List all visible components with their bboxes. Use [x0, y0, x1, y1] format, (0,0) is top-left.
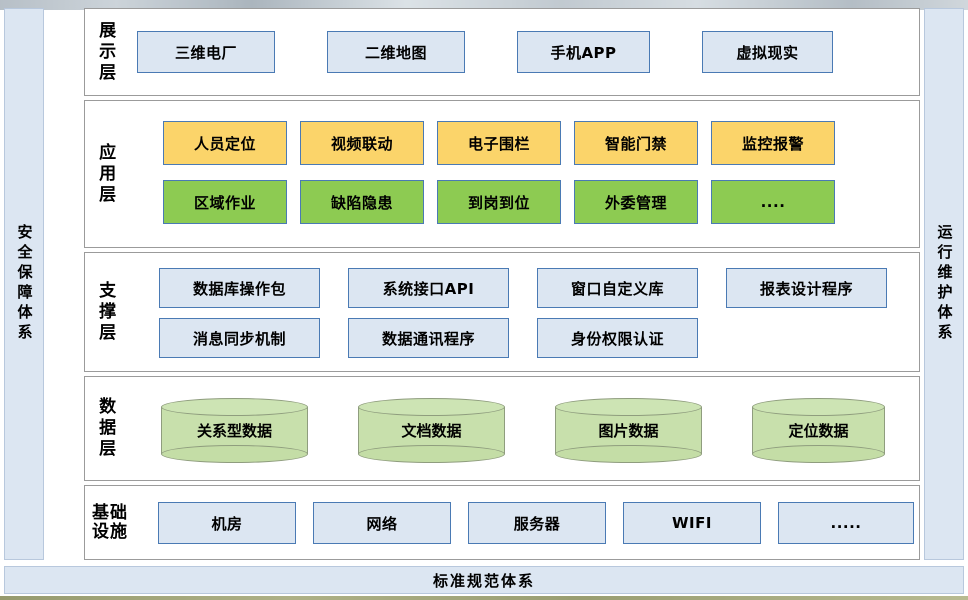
layer-application: 应用层 人员定位 视频联动 电子围栏 智能门禁 监控报警 区域作业 缺陷隐患 到… [84, 100, 920, 248]
node-monitoring-alarm[interactable]: 监控报警 [711, 121, 835, 165]
cylinder-relational-data[interactable]: 关系型数据 [161, 398, 308, 463]
cylinder-document-data[interactable]: 文档数据 [358, 398, 505, 463]
layer-data: 数据层 关系型数据 文档数据 [84, 376, 920, 481]
node-area-operation[interactable]: 区域作业 [163, 180, 287, 224]
infrastructure-node-row: 机房 网络 服务器 WIFI ..... [158, 502, 914, 544]
support-node-row-1: 数据库操作包 系统接口API 窗口自定义库 报表设计程序 [159, 268, 887, 308]
layer-infrastructure-label: 基础 设施 [87, 486, 133, 559]
layer-infrastructure: 基础 设施 机房 网络 服务器 WIFI ..... [84, 485, 920, 560]
architecture-diagram: 〈〈 〈〈 安全保障体系 运行维护体系 展示层 三维电厂 二维地图 手机APP … [0, 0, 968, 600]
application-node-row-2: 区域作业 缺陷隐患 到岗到位 外委管理 .... [163, 180, 835, 224]
node-defect-hazard[interactable]: 缺陷隐患 [300, 180, 424, 224]
node-system-interface-api[interactable]: 系统接口API [348, 268, 509, 308]
right-side-panel: 运行维护体系 [924, 8, 964, 560]
cylinder-label: 关系型数据 [161, 398, 308, 463]
node-server-room[interactable]: 机房 [158, 502, 296, 544]
node-smart-access-control[interactable]: 智能门禁 [574, 121, 698, 165]
node-personnel-positioning[interactable]: 人员定位 [163, 121, 287, 165]
node-server[interactable]: 服务器 [468, 502, 606, 544]
layer-infrastructure-label-line2: 设施 [92, 522, 128, 542]
node-2d-map[interactable]: 二维地图 [327, 31, 465, 73]
node-infrastructure-more[interactable]: ..... [778, 502, 914, 544]
node-virtual-reality[interactable]: 虚拟现实 [702, 31, 833, 73]
node-identity-permission-auth[interactable]: 身份权限认证 [537, 318, 698, 358]
cylinder-label: 文档数据 [358, 398, 505, 463]
layer-presentation: 展示层 三维电厂 二维地图 手机APP 虚拟现实 [84, 8, 920, 96]
node-data-communication-program[interactable]: 数据通讯程序 [348, 318, 509, 358]
node-window-custom-library[interactable]: 窗口自定义库 [537, 268, 698, 308]
bottom-standards-bar-label: 标准规范体系 [433, 570, 535, 591]
node-report-design-program[interactable]: 报表设计程序 [726, 268, 887, 308]
support-node-row-2: 消息同步机制 数据通讯程序 身份权限认证 [159, 318, 698, 358]
cylinder-label: 图片数据 [555, 398, 702, 463]
node-wifi[interactable]: WIFI [623, 502, 761, 544]
node-message-sync-mechanism[interactable]: 消息同步机制 [159, 318, 320, 358]
cylinder-label: 定位数据 [752, 398, 885, 463]
node-mobile-app[interactable]: 手机APP [517, 31, 650, 73]
node-video-linkage[interactable]: 视频联动 [300, 121, 424, 165]
right-side-panel-label: 运行维护体系 [937, 224, 952, 344]
data-cylinder-row: 关系型数据 文档数据 图片数据 定 [161, 398, 885, 463]
bottom-standards-bar: 标准规范体系 [4, 566, 964, 594]
layer-support: 支撑层 数据库操作包 系统接口API 窗口自定义库 报表设计程序 消息同步机制 … [84, 252, 920, 372]
left-side-panel: 安全保障体系 [4, 8, 44, 560]
bottom-photo-band [0, 596, 968, 600]
layer-infrastructure-label-line1: 基础 [92, 503, 128, 523]
cylinder-location-data[interactable]: 定位数据 [752, 398, 885, 463]
cylinder-image-data[interactable]: 图片数据 [555, 398, 702, 463]
node-outsourcing-management[interactable]: 外委管理 [574, 180, 698, 224]
node-on-post-on-duty[interactable]: 到岗到位 [437, 180, 561, 224]
presentation-node-row: 三维电厂 二维地图 手机APP 虚拟现实 [137, 31, 833, 73]
layer-application-label: 应用层 [85, 101, 125, 247]
layer-stack: 展示层 三维电厂 二维地图 手机APP 虚拟现实 应用层 人员定位 视频联动 电… [48, 8, 920, 560]
node-3d-plant[interactable]: 三维电厂 [137, 31, 275, 73]
layer-presentation-label: 展示层 [85, 9, 125, 95]
node-electronic-fence[interactable]: 电子围栏 [437, 121, 561, 165]
left-side-panel-label: 安全保障体系 [17, 224, 32, 344]
node-db-operation-package[interactable]: 数据库操作包 [159, 268, 320, 308]
node-network[interactable]: 网络 [313, 502, 451, 544]
layer-data-label: 数据层 [85, 377, 125, 480]
layer-support-label: 支撑层 [85, 253, 125, 371]
application-node-row-1: 人员定位 视频联动 电子围栏 智能门禁 监控报警 [163, 121, 835, 165]
node-application-more[interactable]: .... [711, 180, 835, 224]
